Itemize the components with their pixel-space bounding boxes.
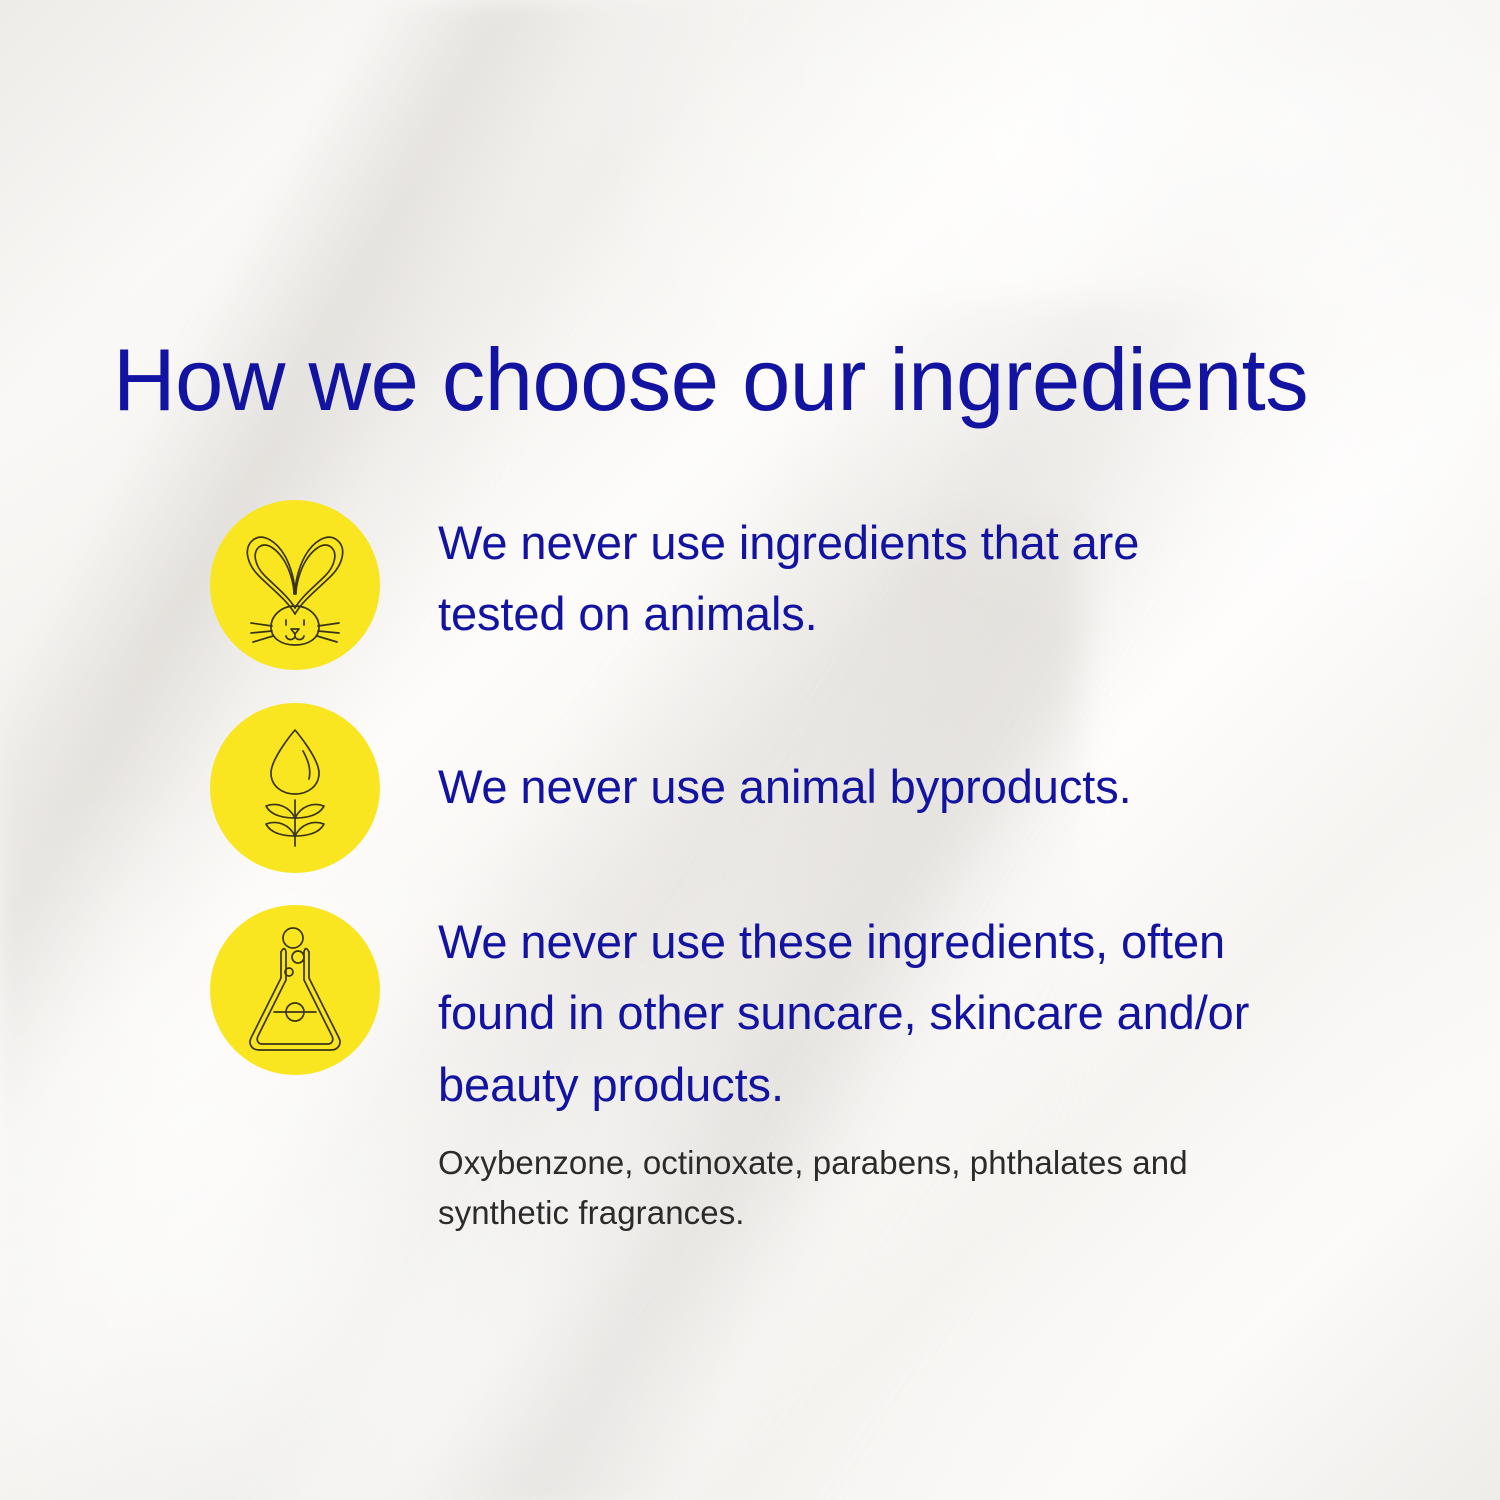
benefit-text: We never use ingredients that are tested…	[438, 507, 1228, 650]
list-item: We never use ingredients that are tested…	[210, 500, 1228, 670]
benefit-icon-badge	[210, 703, 380, 873]
benefit-body: We never use ingredients that are tested…	[438, 500, 1228, 650]
benefit-body: We never use these ingredients, often fo…	[438, 905, 1338, 1239]
benefit-icon-badge	[210, 905, 380, 1075]
benefit-text: We never use animal byproducts.	[438, 751, 1132, 822]
page-title: How we choose our ingredients	[113, 336, 1308, 424]
benefit-body: We never use animal byproducts.	[438, 703, 1132, 822]
benefit-text: We never use these ingredients, often fo…	[438, 906, 1338, 1120]
list-item: We never use animal byproducts.	[210, 703, 1132, 873]
list-item: We never use these ingredients, often fo…	[210, 905, 1338, 1239]
droplet-plant-icon	[241, 726, 349, 850]
chemistry-flask-icon	[243, 926, 347, 1054]
content-area: How we choose our ingredients	[0, 0, 1500, 1500]
marketing-graphic: How we choose our ingredients	[0, 0, 1500, 1500]
benefit-subtext: Oxybenzone, octinoxate, parabens, phthal…	[438, 1138, 1228, 1238]
benefit-icon-badge	[210, 500, 380, 670]
bunny-heart-ears-icon	[235, 522, 355, 648]
